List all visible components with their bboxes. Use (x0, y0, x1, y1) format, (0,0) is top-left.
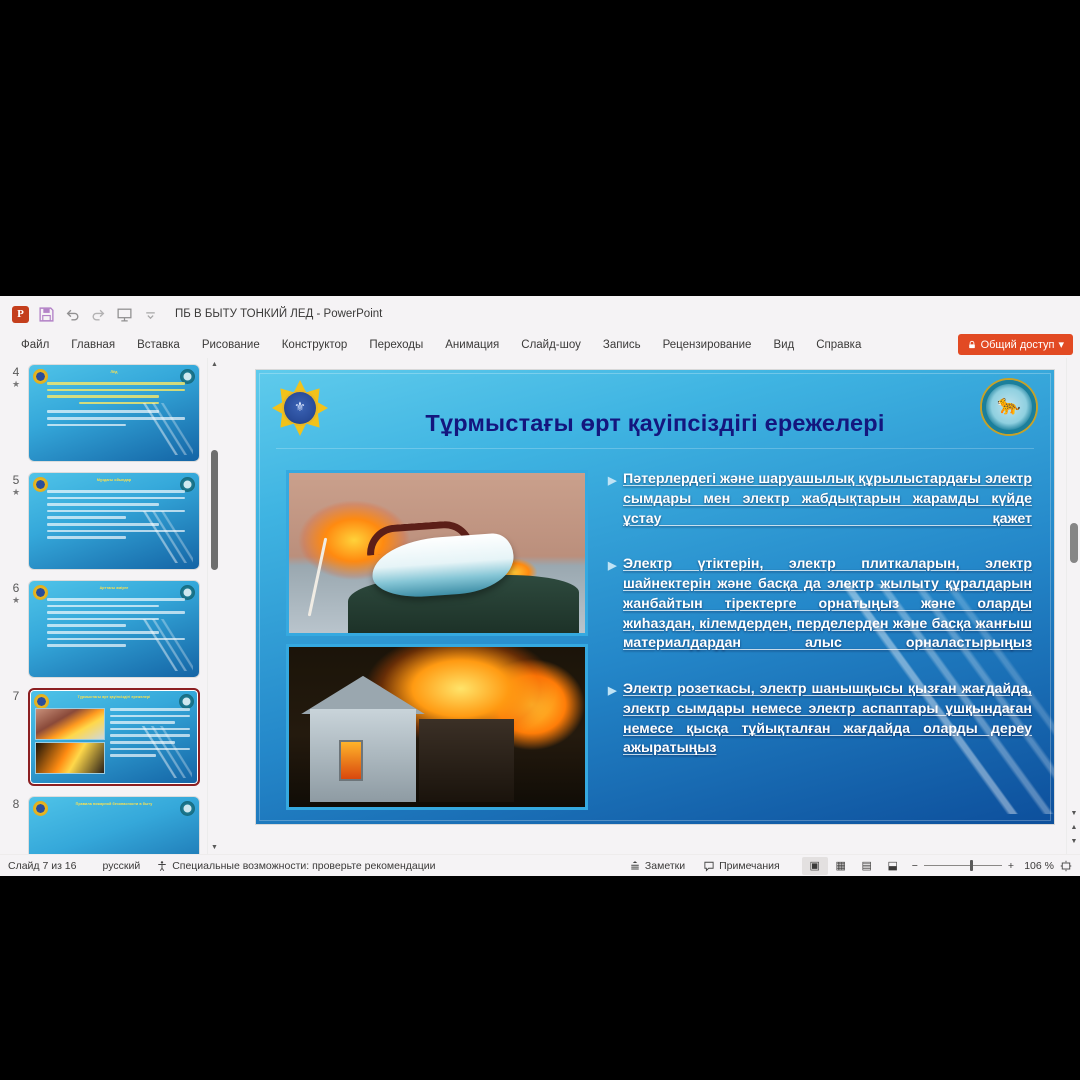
thumb-light-streaks (134, 726, 192, 778)
thumb-burning-house-image (35, 742, 105, 774)
tab-home[interactable]: Главная (60, 336, 126, 354)
thumb-emblem-left-icon (33, 585, 48, 600)
thumb-light-streaks (135, 403, 193, 455)
powerpoint-window: P ПБ В БЫТУ ТОНКИЙ ЛЕД - PowerPoi (0, 296, 1080, 876)
bullet-text: Электр үтіктерін, электр плиткаларын, эл… (623, 555, 1032, 674)
thumbnail-row[interactable]: 4 ★ Лёд (0, 364, 222, 462)
accessibility-label: Специальные возможности: проверьте реком… (172, 860, 435, 872)
scroll-down-icon[interactable]: ▼ (208, 841, 221, 854)
thumbnail-meta: 4 ★ (4, 364, 28, 390)
animation-star-icon: ★ (4, 595, 28, 606)
title-divider (276, 448, 1034, 449)
thumbnail-number: 8 (4, 798, 28, 811)
start-presentation-icon[interactable] (116, 306, 133, 323)
accessibility-icon (156, 860, 168, 872)
comment-icon (703, 860, 715, 872)
thumbnail-scroll-thumb[interactable] (211, 450, 218, 570)
thumbnail-meta: 8 (4, 796, 28, 811)
notes-label: Заметки (645, 860, 685, 872)
slide-thumbnail-5[interactable]: Мұздағы ойындар (28, 472, 200, 570)
thumbnail-row[interactable]: 6 ★ Арттағы өмірге (0, 580, 222, 678)
quick-access-toolbar: P (6, 306, 159, 323)
tab-slideshow[interactable]: Слайд-шоу (510, 336, 592, 354)
bullet-item: ▶ Электр үтіктерін, электр плиткаларын, … (608, 555, 1032, 674)
thumbnail-row[interactable]: 8 Правила пожарной безопасности в быту (0, 796, 222, 854)
thumb-emblem-left-icon (33, 477, 48, 492)
animation-star-icon: ★ (4, 487, 28, 498)
snow-leopard-circle-emblem-icon: 🐆 (982, 380, 1038, 436)
slide-vertical-scrollbar[interactable]: ▼ ▲ ▼ (1066, 358, 1080, 854)
burning-iron-photo[interactable] (286, 470, 588, 636)
tab-review[interactable]: Рецензирование (652, 336, 763, 354)
tab-draw[interactable]: Рисование (191, 336, 271, 354)
slide-thumbnail-pane: 4 ★ Лёд (0, 358, 222, 854)
bullet-item: ▶ Пәтерлердегі және шаруашылық құрылыста… (608, 470, 1032, 549)
slide-thumbnail-8[interactable]: Правила пожарной безопасности в быту (28, 796, 200, 854)
zoom-control: − + 106 % (912, 860, 1072, 872)
reading-view-button[interactable]: ▤ (854, 857, 880, 875)
thumbnail-images (35, 708, 105, 776)
slide-title: Тұрмыстағы өрт қауіпсіздігі ережелері (346, 410, 964, 437)
slide-thumbnail-6[interactable]: Арттағы өмірге (28, 580, 200, 678)
thumbnail-row-selected[interactable]: 7 Тұрмыстағы өрт қауіпсіздігі ережелері (0, 688, 222, 786)
thumb-light-streaks (135, 511, 193, 563)
bullet-marker-icon: ▶ (608, 680, 623, 779)
thumb-light-streaks (135, 619, 193, 671)
burning-house-photo[interactable] (286, 644, 588, 810)
thumbnail-number: 7 (4, 690, 28, 703)
language-indicator[interactable]: русский (103, 860, 141, 872)
comments-button[interactable]: Примечания (703, 860, 780, 872)
scroll-up-arrow-icon[interactable]: ▲ (1067, 821, 1080, 834)
tab-animations[interactable]: Анимация (434, 336, 510, 354)
next-slide-icon[interactable]: ▼ (1067, 835, 1080, 848)
slide-canvas-pane: ⚜ 🐆 Тұрмыстағы өрт қауіпсіздігі ережелер… (230, 358, 1080, 854)
thumbnail-meta: 6 ★ (4, 580, 28, 606)
status-bar: Слайд 7 из 16 русский Специальные возмож… (0, 854, 1080, 876)
slide-sorter-view-button[interactable]: ▦ (828, 857, 854, 875)
slide-bullet-list: ▶ Пәтерлердегі және шаруашылық құрылыста… (608, 470, 1032, 785)
customize-qat-chevron-icon[interactable] (142, 306, 159, 323)
slide-thumbnail-4[interactable]: Лёд (28, 364, 200, 462)
bullet-marker-icon: ▶ (608, 470, 623, 549)
thumbnail-title: Мұздағы ойындар (51, 478, 177, 483)
undo-icon[interactable] (64, 306, 81, 323)
tab-design[interactable]: Конструктор (271, 336, 359, 354)
animation-star-icon: ★ (4, 379, 28, 390)
document-title: ПБ В БЫТУ ТОНКИЙ ЛЕД - PowerPoint (175, 308, 382, 320)
thumbnail-title: Арттағы өмірге (51, 586, 177, 591)
tab-file[interactable]: Файл (10, 336, 60, 354)
slide-scroll-thumb[interactable] (1070, 523, 1078, 563)
tab-transitions[interactable]: Переходы (358, 336, 434, 354)
bullet-text: Пәтерлердегі және шаруашылық құрылыстард… (623, 470, 1032, 549)
thumbnail-meta: 5 ★ (4, 472, 28, 498)
powerpoint-app-icon[interactable]: P (12, 306, 29, 323)
thumbnail-title: Правила пожарной безопасности в быту (51, 802, 177, 807)
comments-label: Примечания (719, 860, 780, 872)
slide-image-column (286, 470, 588, 818)
thumbnail-number: 6 (4, 582, 28, 595)
tab-insert[interactable]: Вставка (126, 336, 191, 354)
previous-slide-icon[interactable]: ▼ (1067, 807, 1080, 820)
normal-view-button[interactable]: ▣ (802, 857, 828, 875)
ribbon-tab-strip: Файл Главная Вставка Рисование Конструкт… (0, 332, 1080, 358)
title-bar: P ПБ В БЫТУ ТОНКИЙ ЛЕД - PowerPoi (0, 296, 1080, 332)
share-lock-icon (967, 340, 977, 350)
slide-thumbnail-7[interactable]: Тұрмыстағы өрт қауіпсіздігі ережелері (28, 688, 200, 786)
zoom-level-label[interactable]: 106 % (1020, 860, 1054, 872)
notes-button[interactable]: Заметки (629, 860, 685, 872)
thumb-emblem-left-icon (33, 801, 48, 816)
thumbnail-scrollbar[interactable]: ▲ ▼ (207, 358, 220, 854)
zoom-in-button[interactable]: + (1008, 860, 1014, 872)
ministry-emergency-star-emblem-icon: ⚜ (272, 380, 328, 436)
thumb-emblem-left-icon (33, 369, 48, 384)
share-button[interactable]: Общий доступ ▾ (958, 334, 1073, 355)
screenshot-stage: P ПБ В БЫТУ ТОНКИЙ ЛЕД - PowerPoi (0, 0, 1080, 1080)
zoom-out-button[interactable]: − (912, 860, 918, 872)
thumbnail-number: 5 (4, 474, 28, 487)
chevron-down-icon: ▾ (1058, 338, 1064, 351)
redo-icon[interactable] (90, 306, 107, 323)
zoom-slider-knob[interactable] (970, 860, 973, 871)
pane-splitter[interactable] (222, 358, 230, 854)
thumb-emblem-left-icon (34, 694, 49, 709)
slideshow-view-button[interactable]: ⬓ (880, 857, 906, 875)
share-label: Общий доступ (981, 339, 1055, 351)
tab-help[interactable]: Справка (805, 336, 872, 354)
bullet-marker-icon: ▶ (608, 555, 623, 674)
notes-icon (629, 860, 641, 872)
tab-view[interactable]: Вид (762, 336, 805, 354)
thumb-emblem-right-icon (179, 694, 194, 709)
thumbnail-meta: 7 (4, 688, 28, 703)
fit-slide-to-window-icon[interactable] (1060, 860, 1072, 872)
bullet-text: Электр розеткасы, электр шанышқысы қызға… (623, 680, 1032, 779)
thumbnail-title: Лёд (51, 370, 177, 375)
bullet-item: ▶ Электр розеткасы, электр шанышқысы қыз… (608, 680, 1032, 779)
thumb-emblem-right-icon (180, 801, 195, 816)
zoom-slider[interactable] (924, 865, 1002, 866)
slide-counter[interactable]: Слайд 7 из 16 (8, 860, 77, 872)
accessibility-status[interactable]: Специальные возможности: проверьте реком… (156, 860, 435, 872)
scroll-up-icon[interactable]: ▲ (208, 358, 221, 371)
current-slide[interactable]: ⚜ 🐆 Тұрмыстағы өрт қауіпсіздігі ережелер… (255, 369, 1055, 825)
tab-record[interactable]: Запись (592, 336, 652, 354)
thumbnail-number: 4 (4, 366, 28, 379)
thumbnail-title: Тұрмыстағы өрт қауіпсіздігі ережелері (52, 695, 176, 700)
save-icon[interactable] (38, 306, 55, 323)
thumb-burning-iron-image (35, 708, 105, 740)
thumbnail-row[interactable]: 5 ★ Мұздағы ойындар (0, 472, 222, 570)
workspace: 4 ★ Лёд (0, 358, 1080, 854)
